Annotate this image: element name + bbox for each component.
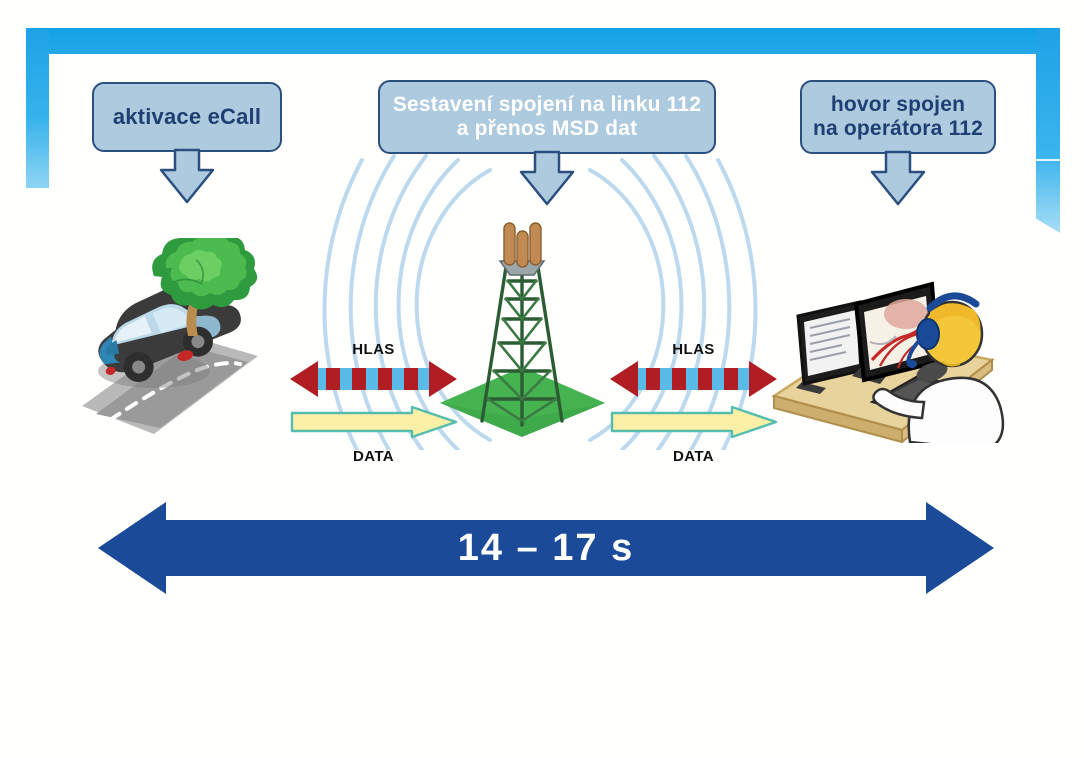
callout-operator-line1: hovor spojen xyxy=(813,93,983,117)
frame-bar-top xyxy=(26,28,1060,54)
timeline-duration: 14 – 17 s xyxy=(96,498,996,598)
voice-label-right: HLAS xyxy=(606,340,781,359)
callout-connection-box: Sestavení spojení na linku 112 a přenos … xyxy=(378,80,716,154)
voice-label-left: HLAS xyxy=(286,340,461,359)
voice-arrow-left xyxy=(286,359,461,399)
callout-activation[interactable]: aktivace eCall xyxy=(92,82,282,152)
data-label-left: DATA xyxy=(286,447,461,466)
frame-bar-left xyxy=(26,28,49,188)
callout-operator[interactable]: hovor spojen na operátora 112 xyxy=(800,80,996,154)
data-arrow-right xyxy=(606,405,781,447)
signal-pair-right: HLAS DATA xyxy=(606,340,781,466)
frame-bar-right-seam xyxy=(1036,159,1060,161)
callout-operator-box: hovor spojen na operátora 112 xyxy=(800,80,996,154)
callout-connection[interactable]: Sestavení spojení na linku 112 a přenos … xyxy=(378,80,716,154)
callout-activation-label: aktivace eCall xyxy=(113,104,261,130)
callout-connection-line2: a přenos MSD dat xyxy=(393,117,701,141)
frame-bar-right xyxy=(1036,28,1060,233)
callout-connection-arrow xyxy=(516,150,578,208)
signal-pair-left: HLAS DATA xyxy=(286,340,461,466)
diagram-canvas: aktivace eCall Sestavení spojení na link… xyxy=(0,0,1084,758)
crashed-car-icon xyxy=(62,238,302,438)
callout-operator-line2: na operátora 112 xyxy=(813,117,983,141)
data-arrow-left xyxy=(286,405,461,447)
callout-activation-arrow xyxy=(156,148,218,206)
voice-arrow-right xyxy=(606,359,781,399)
operator-workstation-icon xyxy=(760,268,1010,443)
callout-activation-box: aktivace eCall xyxy=(92,82,282,152)
callout-connection-line1: Sestavení spojení na linku 112 xyxy=(393,93,701,117)
frame-bracket-right xyxy=(1036,28,1060,233)
data-label-right: DATA xyxy=(606,447,781,466)
callout-operator-arrow xyxy=(867,150,929,208)
